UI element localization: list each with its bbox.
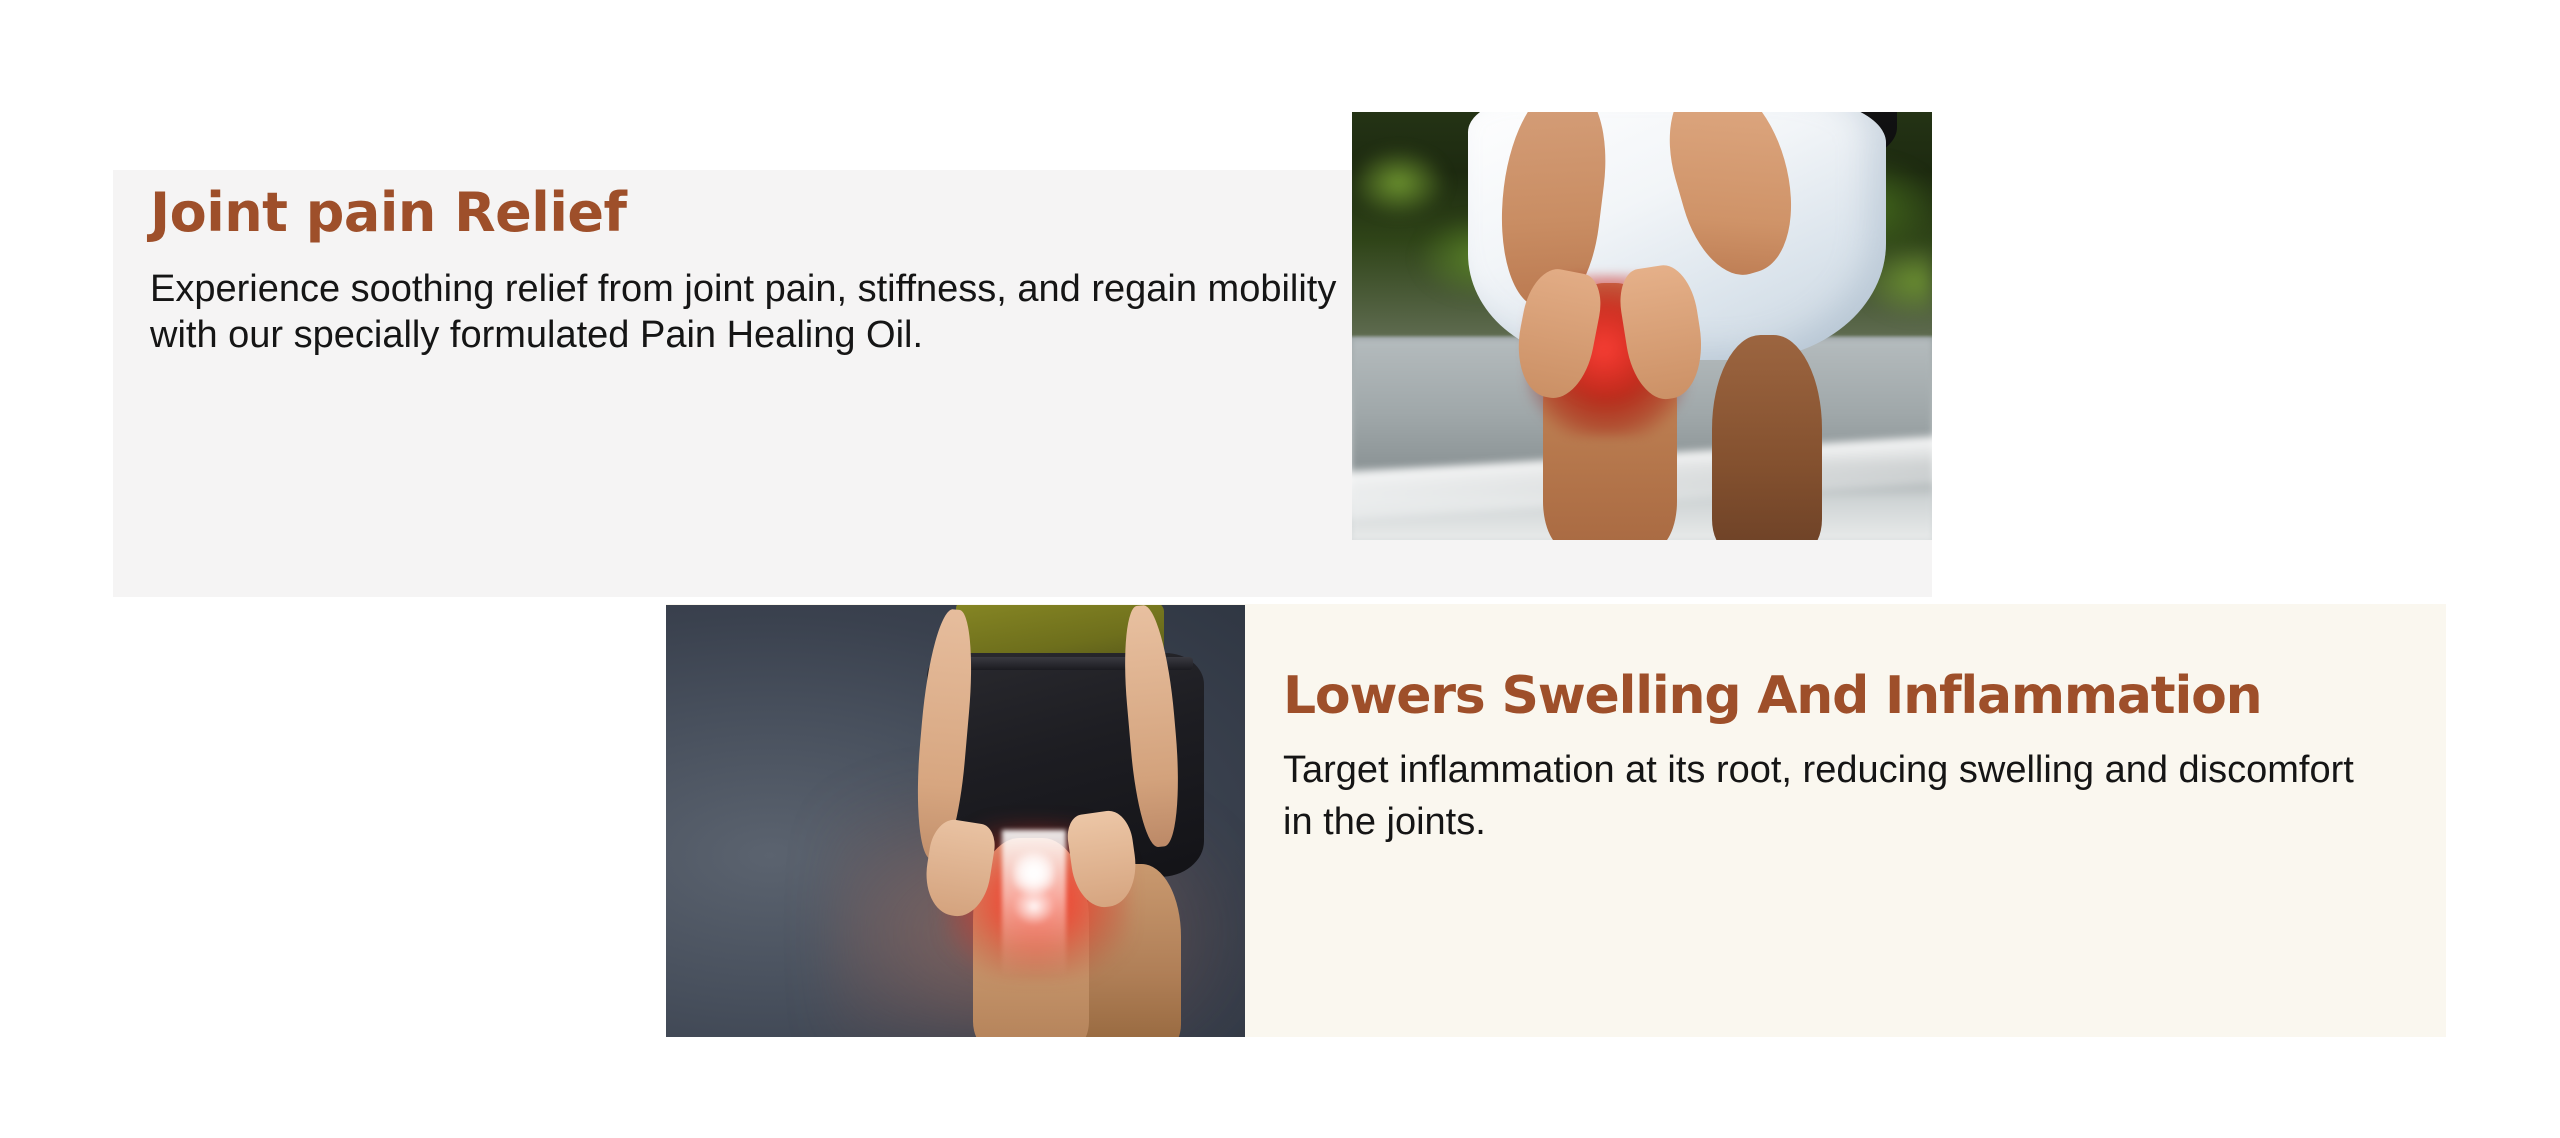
knee-pain-outdoor-image: [1352, 112, 1932, 540]
benefit-card-joint-pain-relief: Joint pain Relief Experience soothing re…: [113, 170, 1932, 597]
knee-pain-outdoor-photo: [1352, 112, 1932, 540]
knee-joint-flare: [1013, 847, 1054, 899]
benefit-card-text-block: Joint pain Relief Experience soothing re…: [150, 182, 1340, 358]
benefit-card-description: Target inflammation at its root, reducin…: [1283, 744, 2393, 848]
benefit-card-lowers-swelling: Lowers Swelling And Inflammation Target …: [666, 604, 2446, 1037]
benefit-card-heading: Lowers Swelling And Inflammation: [1283, 666, 2393, 726]
benefit-card-heading: Joint pain Relief: [150, 182, 1340, 244]
benefit-card-description: Experience soothing relief from joint pa…: [150, 266, 1340, 358]
knee-joint-xray-image: [666, 605, 1245, 1037]
feature-benefits-section: Joint pain Relief Experience soothing re…: [0, 0, 2560, 1138]
knee-joint-xray-glow-photo: [666, 605, 1245, 1037]
back-leg: [1712, 335, 1822, 540]
benefit-card-text-block: Lowers Swelling And Inflammation Target …: [1283, 666, 2393, 848]
